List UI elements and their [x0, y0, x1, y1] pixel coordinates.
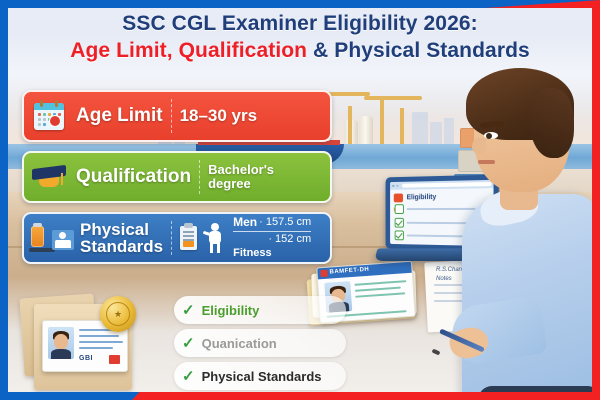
title-line-1: SSC CGL Examiner Eligibility 2026:: [8, 12, 592, 37]
identity-card-line: [79, 347, 113, 349]
title-line-2: Age Limit, Qualification & Physical Stan…: [8, 38, 592, 63]
card-divider: [171, 221, 172, 256]
admit-card-line: [355, 292, 405, 297]
desk-person-icon: [52, 230, 74, 250]
physical-fitness-label: Fitness: [233, 247, 311, 261]
checklist-label: Quanication: [202, 336, 277, 351]
checkbox-checked-icon[interactable]: [395, 244, 404, 247]
student-illustration: [452, 66, 592, 392]
clipboard-icon: [180, 226, 197, 250]
info-cards: Age Limit 18–30 yrs Qualification Bachel…: [22, 90, 332, 273]
photo-face: [54, 334, 68, 349]
poster-title: SSC CGL Examiner Eligibility 2026: Age L…: [8, 12, 592, 63]
card-divider: [199, 160, 200, 195]
identity-card-photo: [48, 327, 74, 359]
gold-seal-emblem: ★: [106, 302, 131, 327]
supplement-jar-icon: [29, 224, 51, 252]
checkbox-checked-icon[interactable]: [395, 230, 404, 240]
student-mouth: [478, 160, 495, 164]
identity-card-line: [79, 341, 123, 343]
photo-suit: [51, 349, 71, 359]
measurement-divider: [233, 231, 311, 232]
measuring-person-icon: [202, 223, 228, 253]
identity-card-line: [79, 335, 119, 337]
title-line-2-red: Age Limit, Qualification: [70, 39, 307, 62]
check-icon: ✓: [182, 303, 195, 318]
card-qualification-value-line2: degree: [208, 177, 274, 191]
card-qualification[interactable]: Qualification Bachelor's degree: [22, 151, 332, 203]
identity-card-org: GBI: [79, 355, 93, 362]
card-age-limit[interactable]: Age Limit 18–30 yrs: [22, 90, 332, 142]
physical-measurements: Men · 157.5 cm · 152 cm Fitness: [233, 215, 311, 261]
student-hair-back: [530, 88, 574, 158]
admit-card-line: [354, 280, 406, 286]
port-crane-arm: [364, 96, 422, 100]
eligibility-checklist: ✓ Eligibility ✓ Quanication ✓ Physical S…: [174, 296, 346, 392]
checklist-item-qualification[interactable]: ✓ Quanication: [174, 329, 346, 357]
poster-inner: SSC CGL Examiner Eligibility 2026: Age L…: [8, 8, 592, 392]
student-chair: [478, 386, 592, 392]
physical-women-value: · 152 cm: [268, 233, 311, 247]
card-qualification-value-line1: Bachelor's: [208, 163, 274, 177]
physical-men-label: Men: [233, 215, 257, 230]
infographic-poster: SSC CGL Examiner Eligibility 2026: Age L…: [0, 0, 600, 400]
student-pupil: [486, 133, 492, 139]
admit-card-line: [355, 287, 401, 292]
card-physical-standards-label: Physical Standards: [78, 221, 163, 256]
checkbox-checked-icon[interactable]: [395, 217, 404, 227]
form-logo-icon: [394, 194, 403, 203]
title-line-2-navy: & Physical Standards: [313, 39, 530, 62]
check-icon: ✓: [182, 336, 195, 351]
card-age-limit-label: Age Limit: [74, 106, 163, 125]
card-qualification-value: Bachelor's degree: [208, 163, 274, 191]
browser-dot-icon: [392, 185, 394, 187]
physical-men-value: · 157.5 cm: [259, 216, 311, 230]
checklist-item-eligibility[interactable]: ✓ Eligibility: [174, 296, 346, 324]
graduation-cap-icon: [24, 153, 74, 201]
card-age-limit-value: 18–30 yrs: [180, 107, 258, 125]
student-nose: [472, 138, 486, 154]
checklist-label: Eligibility: [202, 303, 260, 318]
card-physical-standards[interactable]: Physical Standards: [22, 212, 332, 264]
checklist-item-physical-standards[interactable]: ✓ Physical Standards: [174, 362, 346, 390]
card-qualification-label: Qualification: [74, 167, 191, 186]
browser-dot-icon: [396, 185, 398, 187]
card-physical-measures: Men · 157.5 cm · 152 cm Fitness: [180, 215, 311, 261]
card-divider: [171, 99, 172, 134]
fitness-icon: [24, 214, 78, 262]
checklist-label: Physical Standards: [202, 369, 322, 384]
calendar-icon: [24, 92, 74, 140]
checkbox-icon[interactable]: [395, 204, 404, 214]
gold-seal-icon: ★: [100, 296, 136, 332]
check-icon: ✓: [182, 369, 195, 384]
card-physical-label-line2: Standards: [80, 238, 163, 255]
card-physical-label-line1: Physical: [80, 221, 163, 238]
identity-card-flag-icon: [109, 355, 120, 364]
